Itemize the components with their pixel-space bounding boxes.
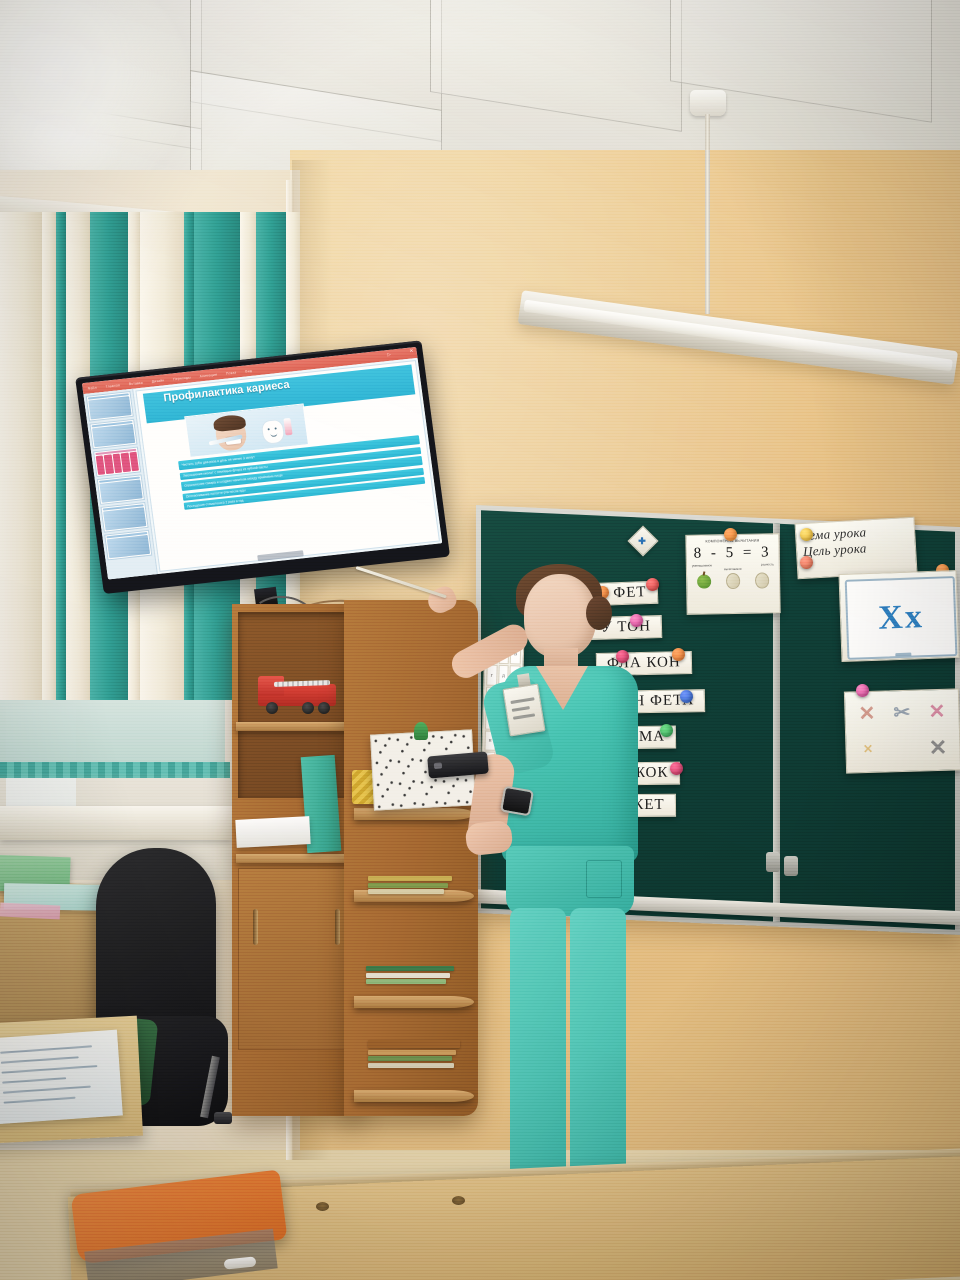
- close-icon[interactable]: ✕: [409, 348, 414, 354]
- crossed-object-icon: ✕: [928, 699, 945, 724]
- magnet-pin[interactable]: [672, 648, 685, 661]
- door-handle[interactable]: [335, 909, 340, 945]
- slide-thumbnail[interactable]: [86, 391, 134, 422]
- slide-thumbnail[interactable]: [104, 530, 152, 561]
- poster-label-difference: разность: [761, 562, 774, 566]
- leg: [510, 908, 566, 1190]
- apple-icon: [697, 574, 711, 588]
- scissors-icon: ✂: [893, 700, 910, 725]
- hair-bun: [586, 596, 612, 630]
- poster-subtraction: КОМПОНЕНТЫ ВЫЧИТАНИЯ 8 - 5 = 3 уменьшаем…: [685, 533, 780, 615]
- monitor-stand-graphic: [896, 653, 912, 658]
- letter-kh: Хх: [878, 598, 925, 638]
- leg: [570, 908, 626, 1190]
- tv-screen[interactable]: Файл Главная Вставка Дизайн Переходы Ани…: [82, 347, 442, 580]
- poster-lesson-topic: Тема урока Цель урока: [795, 517, 918, 580]
- poster-x-objects: ✕ ✂ ✕ ✕ ✕: [844, 688, 960, 773]
- monitor-frame-graphic: Хх: [845, 576, 958, 660]
- slide-thumbnail[interactable]: [89, 419, 137, 450]
- slide-thumbnail[interactable]: [93, 447, 141, 478]
- lamp-suspension-rod: [705, 114, 710, 314]
- window-sill: [0, 806, 232, 840]
- raised-hand: [424, 583, 460, 617]
- apple-half-icon: [726, 573, 740, 589]
- slide-thumbnail[interactable]: [97, 474, 145, 505]
- ribbon-tab[interactable]: Анимация: [199, 372, 217, 378]
- name-badge: [502, 683, 545, 736]
- chalkboard-hinge: [766, 852, 780, 872]
- magnet-pin[interactable]: [800, 556, 813, 569]
- desk-hole: [452, 1196, 465, 1205]
- ribbon-tab[interactable]: Вид: [245, 368, 252, 373]
- poster-label-minuend: уменьшаемое: [692, 563, 712, 567]
- crossed-object-icon: ✕: [928, 735, 947, 762]
- cabinet-door[interactable]: [238, 868, 352, 1050]
- ribbon-tab[interactable]: Главная: [105, 383, 120, 389]
- shelf-plank: [236, 722, 352, 731]
- wristwatch: [500, 786, 534, 817]
- chalkboard-hinge: [784, 856, 798, 876]
- magnet-pin[interactable]: [660, 724, 673, 737]
- curtain-trim: [0, 762, 230, 778]
- ribbon-tab[interactable]: Файл: [87, 385, 97, 390]
- chair-caster: [214, 1112, 232, 1124]
- active-slide[interactable]: Профилактика кариеса Чистить зубы два ра…: [136, 361, 438, 571]
- magnet-pin[interactable]: [856, 684, 869, 697]
- paper-pile: [235, 816, 310, 848]
- worksheet-papers: [0, 1030, 123, 1125]
- desk-hole: [316, 1202, 329, 1211]
- magnet-pin[interactable]: [800, 528, 813, 541]
- lamp-ceiling-mount: [690, 90, 726, 116]
- head: [524, 574, 596, 658]
- tooth-character-icon: [261, 419, 286, 445]
- crossed-bandage-icon: ✕: [858, 701, 875, 726]
- door-handle[interactable]: [253, 909, 258, 945]
- ribbon-tab[interactable]: Переходы: [173, 375, 191, 381]
- wall-mounted-tv[interactable]: Файл Главная Вставка Дизайн Переходы Ани…: [75, 340, 450, 594]
- ribbon-tab[interactable]: Вставка: [129, 380, 143, 385]
- teacher: [410, 560, 650, 1260]
- magnet-pin[interactable]: [670, 762, 683, 775]
- toy-fire-truck: [258, 672, 336, 714]
- poster-equation: 8 - 5 = 3: [690, 544, 776, 562]
- slide-thumbnail[interactable]: [100, 502, 148, 533]
- crossed-object-icon: ✕: [863, 742, 873, 757]
- toothpaste-icon: [283, 418, 292, 436]
- poster-letter-kh: Хх: [839, 570, 960, 662]
- shelf-plank: [236, 854, 352, 863]
- ribbon-tab[interactable]: Показ: [226, 370, 237, 375]
- play-slideshow-icon[interactable]: ▷: [387, 351, 391, 357]
- powerpoint-workspace: Профилактика кариеса Чистить зубы два ра…: [83, 358, 442, 580]
- ribbon-tab[interactable]: Дизайн: [151, 378, 164, 383]
- classroom-photo: Файл Главная Вставка Дизайн Переходы Ани…: [0, 0, 960, 1280]
- magnet-pin[interactable]: [724, 528, 737, 541]
- cross-icon: ✚: [637, 536, 647, 546]
- apple-half-icon: [755, 572, 769, 588]
- scrubs-pocket: [586, 860, 622, 898]
- magnet-pin[interactable]: [680, 690, 693, 703]
